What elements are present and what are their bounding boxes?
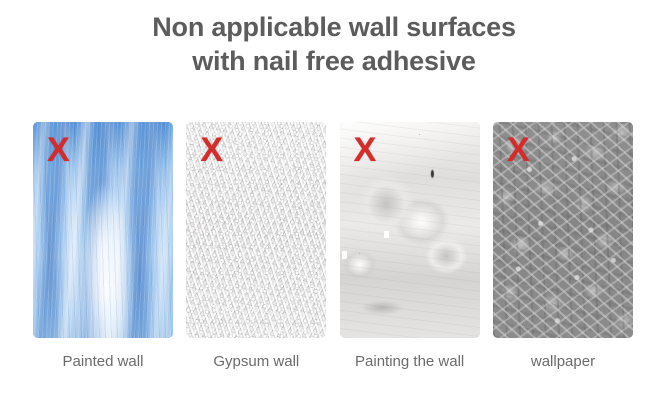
wall-surface-card-gypsum-wall: X (186, 122, 326, 338)
caption-gypsum-wall: Gypsum wall (186, 352, 326, 374)
caption-wallpaper: wallpaper (493, 352, 633, 374)
page-title-line-1: Non applicable wall surfaces (0, 10, 668, 44)
cross-icon: X (200, 133, 223, 167)
cross-icon: X (354, 133, 377, 167)
wall-surface-gallery: X X X X (33, 122, 633, 338)
cross-icon: X (507, 133, 530, 167)
wall-surface-card-wallpaper: X (493, 122, 633, 338)
page-title: Non applicable wall surfaces with nail f… (0, 10, 668, 78)
caption-painting-the-wall: Painting the wall (340, 352, 480, 374)
wall-surface-captions: Painted wall Gypsum wall Painting the wa… (33, 352, 633, 374)
infographic-page: Non applicable wall surfaces with nail f… (0, 0, 668, 420)
wall-surface-card-painted-wall: X (33, 122, 173, 338)
caption-painted-wall: Painted wall (33, 352, 173, 374)
wall-surface-card-painting-the-wall: X (340, 122, 480, 338)
cross-icon: X (47, 133, 70, 167)
page-title-line-2: with nail free adhesive (0, 44, 668, 78)
